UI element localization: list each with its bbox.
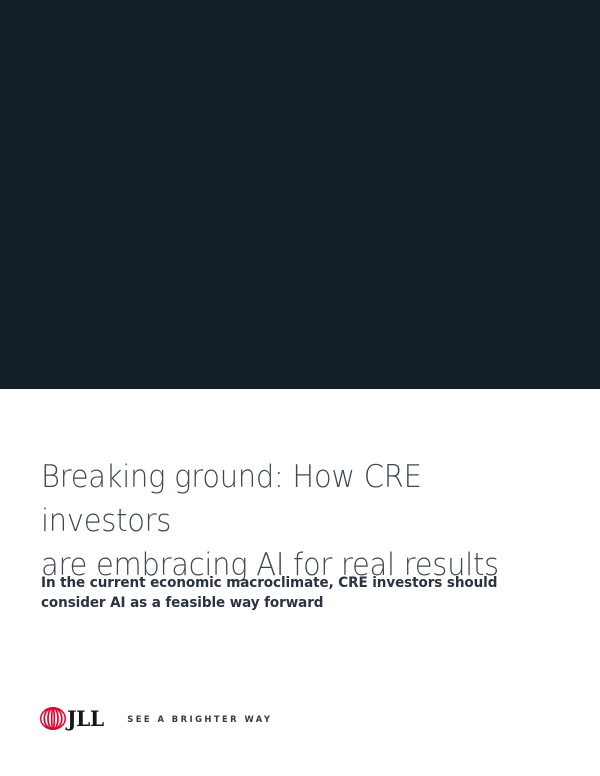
jll-tagline: SEE A BRIGHTER WAY <box>127 714 272 724</box>
page-subtitle: In the current economic macroclimate, CR… <box>41 573 509 613</box>
hero-banner <box>0 0 600 389</box>
jll-logo-lockup: JLL SEE A BRIGHTER WAY <box>40 707 272 730</box>
jll-globe-icon <box>40 707 66 730</box>
cover-content: Breaking ground: How CRE investors are e… <box>0 389 600 776</box>
cover-page: Breaking ground: How CRE investors are e… <box>0 0 600 776</box>
page-title: Breaking ground: How CRE investors are e… <box>41 455 527 587</box>
jll-wordmark: JLL <box>67 708 104 729</box>
